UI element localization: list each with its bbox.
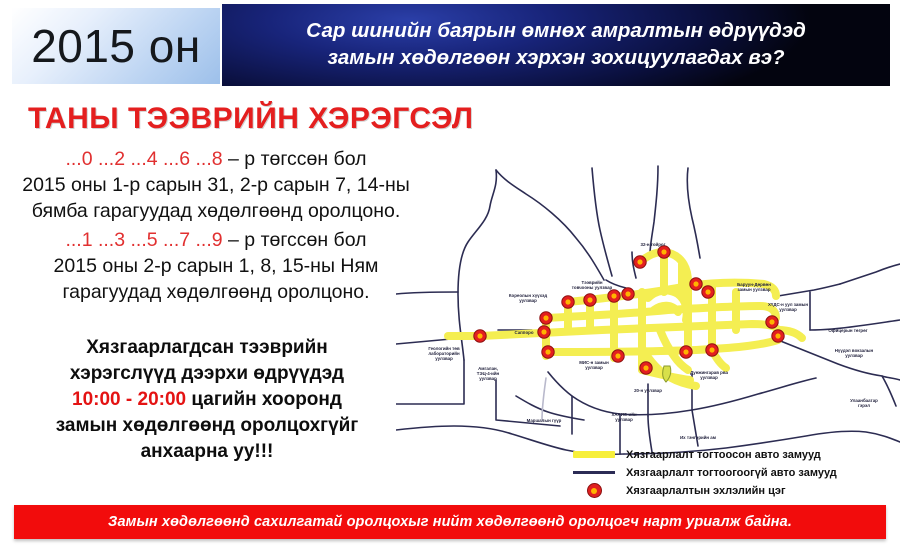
restricted-roads-layer — [448, 252, 802, 386]
map-label: Геологийн төвлабораторийнуулзвар — [428, 346, 460, 361]
header: 2015 он Сар шинийн баярын өмнөх амралтын… — [0, 0, 900, 92]
even-line1-rest: – р төгссөн бол — [223, 148, 367, 170]
restriction-start-marker-core — [705, 289, 710, 294]
page-title: ТАНЫ ТЭЭВРИЙН ХЭРЭГСЭЛ — [28, 102, 473, 136]
even-digits: ...0 ...2 ...4 ...6 ...8 — [65, 148, 222, 170]
navy-road-swatch-icon — [573, 471, 615, 474]
restriction-start-marker-core — [683, 349, 688, 354]
legend-row-restricted: Хязгаарлалт тогтоосон авто замууд — [566, 446, 896, 463]
legend-label-start-point: Хязгаарлалтын эхлэлийн цэг — [626, 485, 786, 497]
odd-digits: ...1 ...3 ...5 ...7 ...9 — [65, 229, 222, 251]
legend-key-marker — [566, 483, 622, 498]
left-content-column: ТАНЫ ТЭЭВРИЙН ХЭРЭГСЭЛ ...0 ...2 ...4 ..… — [0, 92, 430, 502]
road-map-svg: 32-н тойрогБаруун-Дөрвөнзамын уулзварХҮД… — [396, 134, 900, 456]
notice-line-3: 10:00 - 20:00 цагийн хооронд — [12, 387, 402, 413]
restriction-start-marker-core — [615, 353, 620, 358]
map-label: Нүүдэл вокзалынуулзвар — [835, 348, 874, 358]
notice-line-4: замын хөдөлгөөнд оролцохгүйг — [12, 413, 402, 439]
legend-label-unrestricted: Хязгаарлалт тогтоогоогүй авто замууд — [626, 467, 837, 479]
header-banner: Сар шинийн баярын өмнөх амралтын өдрүүдэ… — [222, 4, 890, 86]
restriction-start-marker-core — [565, 299, 570, 304]
notice-line-2: хэрэгслүүд дээрхи өдрүүдэд — [12, 361, 402, 387]
odd-line1-rest: – р төгссөн бол — [223, 229, 367, 251]
paragraph-odd-line-2: 2015 оны 2-р сарын 1, 8, 15-ны Ням — [6, 253, 426, 279]
restriction-start-marker-core — [541, 329, 546, 334]
poster-root: 2015 он Сар шинийн баярын өмнөх амралтын… — [0, 0, 900, 553]
paragraph-even-line-2: 2015 оны 1-р сарын 31, 2-р сарын 7, 14-н… — [6, 172, 426, 198]
map-label: 20-н уулзвар — [634, 388, 662, 393]
yellow-road-swatch-icon — [573, 451, 615, 458]
banner-line-1: Сар шинийн баярын өмнөх амралтын өдрүүдэ… — [306, 17, 806, 44]
map-legend: Хязгаарлалт тогтоосон авто замууд Хязгаа… — [566, 446, 896, 500]
restriction-start-marker-icon — [587, 483, 602, 498]
notice-line-1: Хязгаарлагдсан тээврийн — [12, 335, 402, 361]
paragraph-even-plates: ...0 ...2 ...4 ...6 ...8 – р төгссөн бол… — [6, 146, 426, 224]
restriction-notice: Хязгаарлагдсан тээврийн хэрэгслүүд дээрх… — [12, 335, 402, 465]
map-label: Тээврийнтовчооны уулзвар — [572, 280, 613, 290]
map-label: МИС-н замынуулзвар — [579, 360, 609, 370]
map-label: Улаанбаатаргэрэл — [850, 398, 878, 408]
legend-key-navy — [566, 471, 622, 474]
map-label: Саппоро — [514, 330, 533, 335]
legend-row-start-point: Хязгаарлалтын эхлэлийн цэг — [566, 482, 896, 499]
paragraph-even-line-3: бямба гарагуудад хөдөлгөөнд оролцоно. — [6, 198, 426, 224]
restriction-start-marker-core — [709, 347, 714, 352]
map-label: Дунжингарав рвауулзвар — [690, 370, 728, 380]
footer-banner: Замын хөдөлгөөнд сахилгатай оролцохыг ни… — [14, 505, 886, 539]
restriction-start-marker-core — [587, 297, 592, 302]
legend-row-unrestricted: Хязгаарлалт тогтоогоогүй авто замууд — [566, 464, 896, 481]
footer-text: Замын хөдөлгөөнд сахилгатай оролцохыг ни… — [108, 514, 792, 530]
legend-key-yellow — [566, 451, 622, 458]
restriction-start-marker-core — [637, 259, 642, 264]
restriction-start-marker-core — [543, 315, 548, 320]
paragraph-odd-line-1: ...1 ...3 ...5 ...7 ...9 – р төгссөн бол — [6, 227, 426, 253]
restriction-start-marker-core — [643, 365, 648, 370]
map-label: Офицерын төгрөг — [828, 328, 867, 333]
notice-line3-rest: цагийн хооронд — [186, 389, 342, 410]
restriction-start-marker-core — [661, 249, 666, 254]
year-badge: 2015 он — [12, 8, 220, 84]
map-label: Баруун-Дөрвөнзамын уулзвар — [737, 282, 771, 292]
map-label: 32-н тойрог — [641, 242, 666, 247]
road-map: 32-н тойрогБаруун-Дөрвөнзамын уулзварХҮД… — [396, 134, 900, 456]
map-label: ХААИС-ийнуулзвар — [611, 412, 636, 422]
notice-line-5: анхаарна уу!!! — [12, 439, 402, 465]
restriction-start-marker-core — [693, 281, 698, 286]
map-label: Их тэнгэрийн ам — [680, 435, 716, 440]
legend-label-restricted: Хязгаарлалт тогтоосон авто замууд — [626, 449, 821, 461]
map-label: Маршалын гүүр — [527, 418, 562, 423]
restriction-start-marker-core — [545, 349, 550, 354]
map-label: Кореолын хүүхэдуулзвар — [509, 293, 548, 303]
banner-line-2: замын хөдөлгөөн хэрхэн зохицуулагдах вэ? — [327, 44, 784, 71]
restriction-start-marker-core — [769, 319, 774, 324]
year-badge-label: 2015 он — [31, 23, 201, 69]
restriction-start-marker-core — [477, 333, 482, 338]
restriction-start-marker-core — [775, 333, 780, 338]
restriction-start-marker-core — [611, 293, 616, 298]
map-label: Амгалан,ТЭЦ-4-ийнуулзвар — [477, 366, 500, 381]
paragraph-even-line-1: ...0 ...2 ...4 ...6 ...8 – р төгссөн бол — [6, 146, 426, 172]
paragraph-odd-line-3: гарагуудад хөдөлгөөнд оролцоно. — [6, 279, 426, 305]
restriction-hours: 10:00 - 20:00 — [72, 389, 186, 410]
restriction-start-marker-core — [625, 291, 630, 296]
paragraph-odd-plates: ...1 ...3 ...5 ...7 ...9 – р төгссөн бол… — [6, 227, 426, 305]
